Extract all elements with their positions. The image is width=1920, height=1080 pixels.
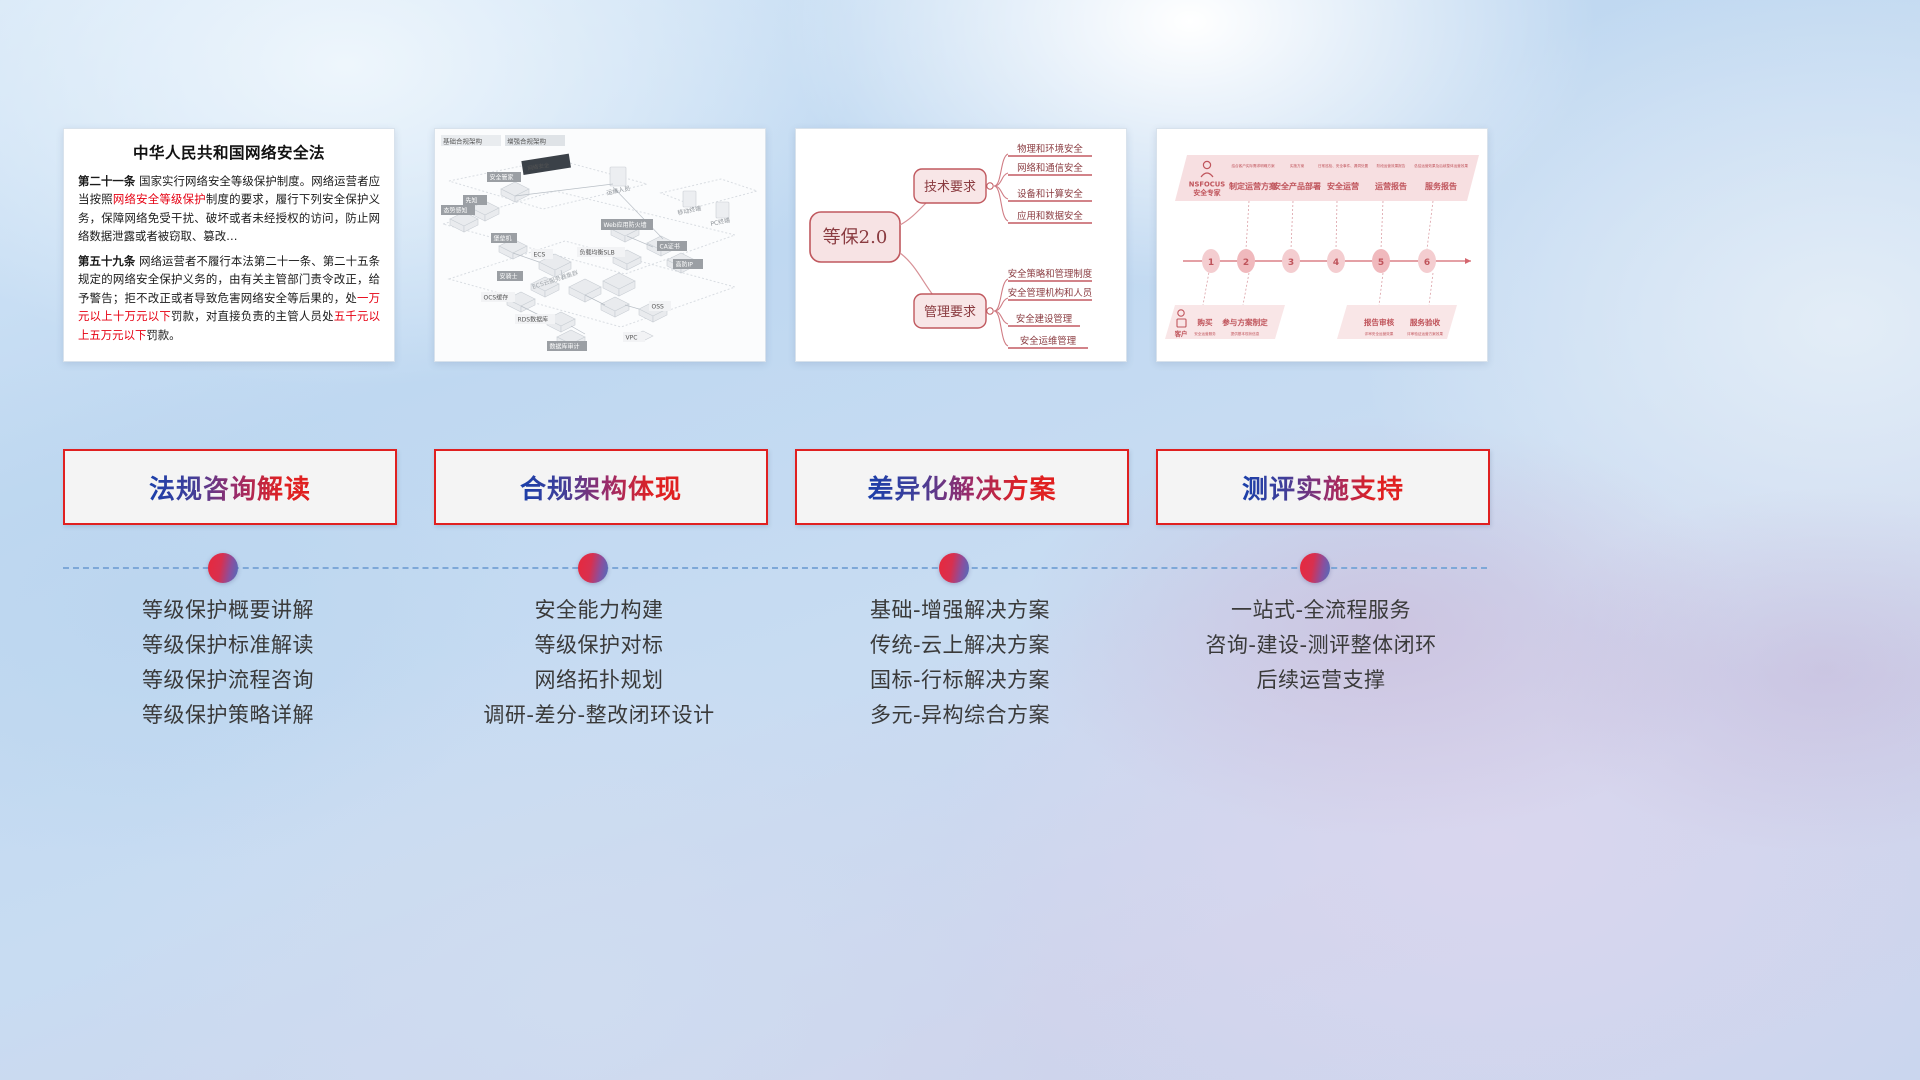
law-body: 中华人民共和国网络安全法 第二十一条 国家实行网络安全等级保护制度。网络运营者应… — [64, 129, 394, 361]
arch-node-label: ECS — [534, 252, 546, 259]
roadmap-bottom-title: 参与方案制定 — [1221, 317, 1268, 327]
roadmap-top-title: 安全运营 — [1327, 181, 1359, 191]
card-row: 中华人民共和国网络安全法 第二十一条 国家实行网络安全等级保护制度。网络运营者应… — [0, 0, 1920, 420]
mindmap-leaf-label: 应用和数据安全 — [1017, 210, 1083, 222]
roadmap-step-number: 1 — [1208, 258, 1214, 268]
list-item: 国标-行标解决方案 — [795, 670, 1125, 691]
section-title-label: 法规咨询解读 — [149, 469, 311, 506]
section-title-box-2[interactable]: 合规架构体现 — [434, 449, 768, 525]
section-title-label: 差异化解决方案 — [867, 469, 1056, 506]
law-title: 中华人民共和国网络安全法 — [78, 141, 380, 163]
mindmap-diagram: 等保2.0 技术要求 物理和环境安全 — [796, 129, 1126, 361]
arch-node-label: RDS数据库 — [518, 316, 549, 324]
list-item: 咨询-建设-测评整体闭环 — [1156, 635, 1486, 656]
mindmap-root-label: 等保2.0 — [823, 227, 888, 248]
list-item: 网络拓扑规划 — [434, 670, 764, 691]
roadmap-top-sub: 日常巡检、安全事件、漏洞处置 — [1318, 163, 1369, 168]
mindmap-leaf-label: 安全运维管理 — [1020, 335, 1077, 347]
list-item: 等级保护对标 — [434, 635, 764, 656]
arch-node-label: VPC — [626, 335, 638, 342]
list-item: 传统-云上解决方案 — [795, 635, 1125, 656]
roadmap-step-number: 6 — [1424, 258, 1430, 268]
section-title-box-3[interactable]: 差异化解决方案 — [795, 449, 1129, 525]
law-article-label: 第五十九条 — [78, 254, 135, 268]
feature-list-2: 安全能力构建 等级保护对标 网络拓扑规划 调研-差分-整改闭环设计 — [434, 600, 764, 740]
arch-node-label: Web应用防火墙 — [604, 221, 647, 229]
roadmap-bottom-title: 报告审核 — [1364, 317, 1395, 327]
timeline-dot-2 — [578, 553, 608, 583]
mindmap-leaf-label: 设备和计算安全 — [1017, 188, 1083, 200]
list-item: 后续运营支撑 — [1156, 670, 1486, 691]
arch-node-label: 安骑士 — [500, 273, 518, 281]
law-run: 罚款。 — [146, 328, 180, 342]
law-article-label: 第二十一条 — [78, 174, 135, 188]
card-cybersecurity-law: 中华人民共和国网络安全法 第二十一条 国家实行网络安全等级保护制度。网络运营者应… — [63, 128, 395, 362]
card-compliance-architecture: 基础合规架构 增强合规架构 网络安全 — [434, 128, 766, 362]
arch-node-label: 安全管家 — [490, 174, 514, 182]
roadmap-bottom-sub: 提供基本现状信息 — [1231, 331, 1260, 336]
roadmap-bottom-sub: 评审验证运营方案效果 — [1407, 331, 1443, 336]
arch-node-label: CA证书 — [660, 243, 680, 251]
mindmap-leaf-label: 安全管理机构和人员 — [1008, 287, 1092, 299]
section-title-box-1[interactable]: 法规咨询解读 — [63, 449, 397, 525]
mindmap-leaf-label: 安全建设管理 — [1016, 313, 1073, 325]
arch-tab-label: 增强合规架构 — [507, 137, 547, 146]
roadmap-top-sub: 阶段运营效果报告 — [1377, 163, 1406, 168]
roadmap-top-actor-line1: NSFOCUS — [1189, 181, 1226, 189]
timeline-dot-4 — [1300, 553, 1330, 583]
list-item: 多元-异构综合方案 — [795, 705, 1125, 726]
arch-node-label: 高防IP — [676, 261, 694, 269]
roadmap-top-sub: 总结运营效果及后续整体运营效果 — [1414, 163, 1468, 168]
roadmap-top-sub: 结合客户实际需求明确方案 — [1231, 163, 1275, 168]
mindmap-branch-label: 管理要求 — [924, 305, 976, 320]
timeline-dashed-line — [63, 567, 1487, 569]
arch-node-label: 负载均衡SLB — [580, 249, 615, 257]
arch-node-label: 堡垒机 — [494, 235, 512, 243]
law-paragraph: 第二十一条 国家实行网络安全等级保护制度。网络运营者应当按照网络安全等级保护制度… — [78, 172, 380, 246]
arch-tab-label: 基础合规架构 — [443, 137, 483, 146]
list-item: 一站式-全流程服务 — [1156, 600, 1486, 621]
section-title-box-4[interactable]: 测评实施支持 — [1156, 449, 1490, 525]
timeline-dot-3 — [939, 553, 969, 583]
arch-node-label: 数据库审计 — [550, 343, 580, 351]
roadmap-top-title: 制定运营方案 — [1229, 181, 1278, 191]
list-item: 等级保护概要讲解 — [63, 600, 393, 621]
feature-list-1: 等级保护概要讲解 等级保护标准解读 等级保护流程咨询 等级保护策略详解 — [63, 600, 393, 740]
roadmap-bottom-title: 服务验收 — [1410, 317, 1441, 327]
list-item: 等级保护标准解读 — [63, 635, 393, 656]
law-run: 罚款，对直接负责的主管人员处 — [171, 309, 334, 323]
arch-node-label: OCS缓存 — [484, 294, 509, 302]
roadmap-top-title: 安全产品部署 — [1273, 181, 1321, 191]
law-run-highlight: 网络安全等级保护 — [113, 192, 206, 206]
mindmap-leaf-label: 物理和环境安全 — [1017, 143, 1083, 155]
section-title-label: 合规架构体现 — [520, 469, 682, 506]
law-paragraph: 第五十九条 网络运营者不履行本法第二十一条、第二十五条规定的网络安全保护义务的，… — [78, 252, 380, 344]
section-title-label: 测评实施支持 — [1242, 469, 1404, 506]
feature-list-3: 基础-增强解决方案 传统-云上解决方案 国标-行标解决方案 多元-异构综合方案 — [795, 600, 1125, 740]
architecture-diagram: 基础合规架构 增强合规架构 网络安全 — [435, 129, 765, 361]
list-item: 调研-差分-整改闭环设计 — [434, 705, 764, 726]
roadmap-diagram: NSFOCUS 安全专家 结合客户实际需求明确方案 制定运营方案 实施方案 安全… — [1157, 129, 1487, 361]
roadmap-bottom-title: 购买 — [1197, 317, 1213, 327]
roadmap-step-number: 4 — [1333, 258, 1339, 268]
mindmap-leaf-label: 网络和通信安全 — [1017, 162, 1083, 174]
feature-list-4: 一站式-全流程服务 咨询-建设-测评整体闭环 后续运营支撑 — [1156, 600, 1486, 705]
mindmap-leaf-label: 安全策略和管理制度 — [1008, 268, 1092, 280]
roadmap-step-number: 2 — [1243, 258, 1249, 268]
timeline-dot-1 — [208, 553, 238, 583]
roadmap-top-sub: 实施方案 — [1290, 163, 1305, 168]
list-item: 等级保护策略详解 — [63, 705, 393, 726]
roadmap-top-actor-line2: 安全专家 — [1193, 188, 1220, 197]
roadmap-step-number: 5 — [1378, 258, 1384, 268]
roadmap-top-title: 运营报告 — [1375, 181, 1407, 191]
roadmap-top-title: 服务报告 — [1425, 181, 1457, 191]
card-mindmap-dengbao: 等保2.0 技术要求 物理和环境安全 — [795, 128, 1127, 362]
roadmap-bottom-actor: 客户 — [1174, 329, 1188, 338]
card-service-roadmap: NSFOCUS 安全专家 结合客户实际需求明确方案 制定运营方案 实施方案 安全… — [1156, 128, 1488, 362]
arch-node-label: OSS — [652, 304, 665, 311]
arch-node-label: 先知 — [466, 197, 478, 205]
list-item: 基础-增强解决方案 — [795, 600, 1125, 621]
list-item: 安全能力构建 — [434, 600, 764, 621]
arch-node-label: 态势感知 — [444, 207, 468, 215]
roadmap-step-number: 3 — [1288, 258, 1294, 268]
roadmap-bottom-sub: 评审安全运营效果 — [1365, 331, 1394, 336]
list-item: 等级保护流程咨询 — [63, 670, 393, 691]
roadmap-bottom-sub: 安全运营服务 — [1194, 331, 1216, 336]
mindmap-branch-label: 技术要求 — [924, 180, 976, 195]
